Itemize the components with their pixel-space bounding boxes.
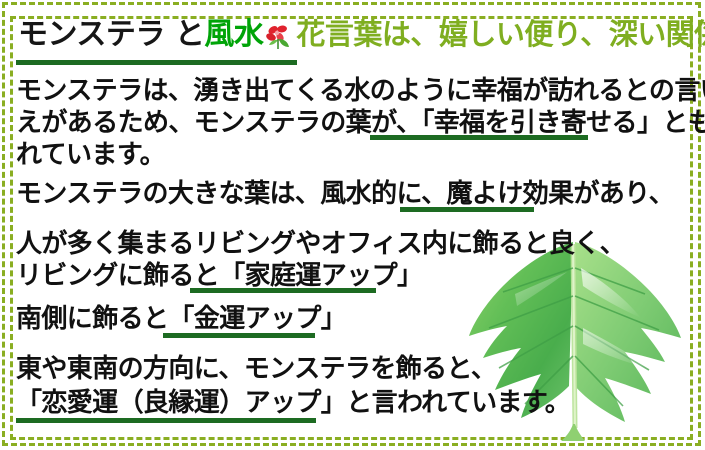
- underline-kateiun-up: [190, 288, 376, 293]
- flower-icon: [265, 22, 295, 50]
- paragraph-2-line-1: モンステラの大きな葉は、風水的に、魔よけ効果があり、: [16, 181, 674, 207]
- title-segment-black: モンステラ と: [18, 17, 204, 52]
- title-segment-olive: 花言葉は、嬉しい便り、深い関係: [296, 17, 705, 51]
- infographic-page: モンステラ と風水 花言葉は、嬉しい便り、深い関係 モンステラは、湧き出てくる水…: [0, 0, 705, 450]
- underline-renaiun-up: [16, 418, 316, 423]
- title-segment-green: 風水: [204, 17, 263, 52]
- underline-kinun-up: [163, 333, 315, 338]
- paragraph-1-line-1: モンステラは、湧き出てくる水のように幸福が訪れるとの言い伝: [16, 78, 705, 104]
- paragraph-3-line-1: 人が多く集まるリビングやオフィス内に飾ると良く、: [16, 231, 625, 257]
- paragraph-3-line-2: リビングに飾ると「家庭運アップ」: [16, 263, 422, 289]
- underline-mayoke-kouka: [400, 207, 534, 212]
- paragraph-1-line-2: えがあるため、モンステラの葉が、「幸福を引き寄せる」ともいわ: [16, 110, 705, 136]
- underline-kofuku-wo-hikiyoseru: [370, 135, 588, 140]
- paragraph-1-line-3: れています。: [16, 142, 165, 168]
- title-underline: [16, 60, 297, 65]
- paragraph-5-line-2: 「恋愛運（良縁運）アップ」と言われています。: [16, 390, 570, 416]
- paragraph-4-line-1: 南側に飾ると「金運アップ」: [16, 306, 346, 332]
- paragraph-5-line-1: 東や東南の方向に、モンステラを飾ると、: [16, 356, 496, 382]
- page-title: モンステラ と風水 花言葉は、嬉しい便り、深い関係: [18, 20, 705, 50]
